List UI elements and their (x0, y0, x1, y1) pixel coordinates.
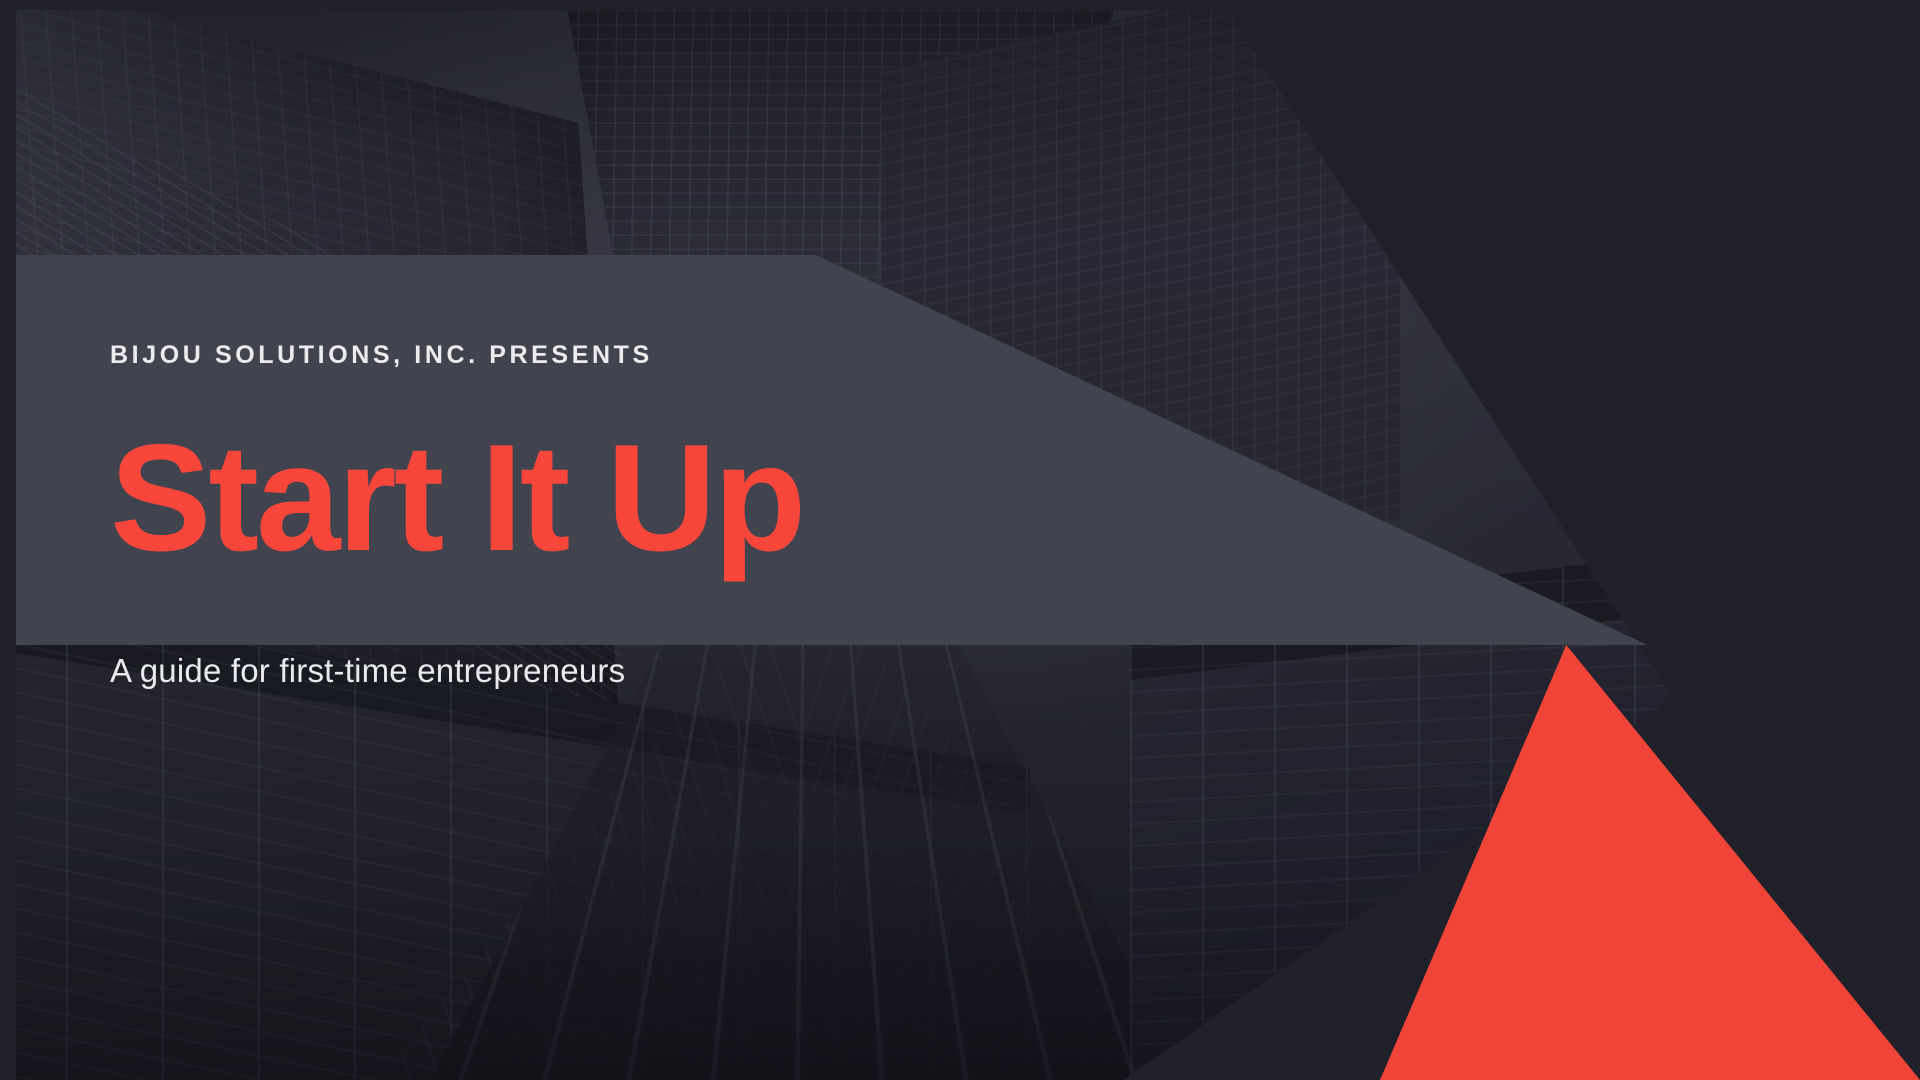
presenter-eyebrow: BIJOU SOLUTIONS, INC. PRESENTS (110, 340, 1310, 370)
page-title: Start It Up (110, 422, 1310, 574)
title-slide: BIJOU SOLUTIONS, INC. PRESENTS Start It … (0, 0, 1920, 1080)
title-block: BIJOU SOLUTIONS, INC. PRESENTS Start It … (110, 340, 1310, 693)
subtitle: A guide for first-time entrepreneurs (110, 650, 1310, 693)
